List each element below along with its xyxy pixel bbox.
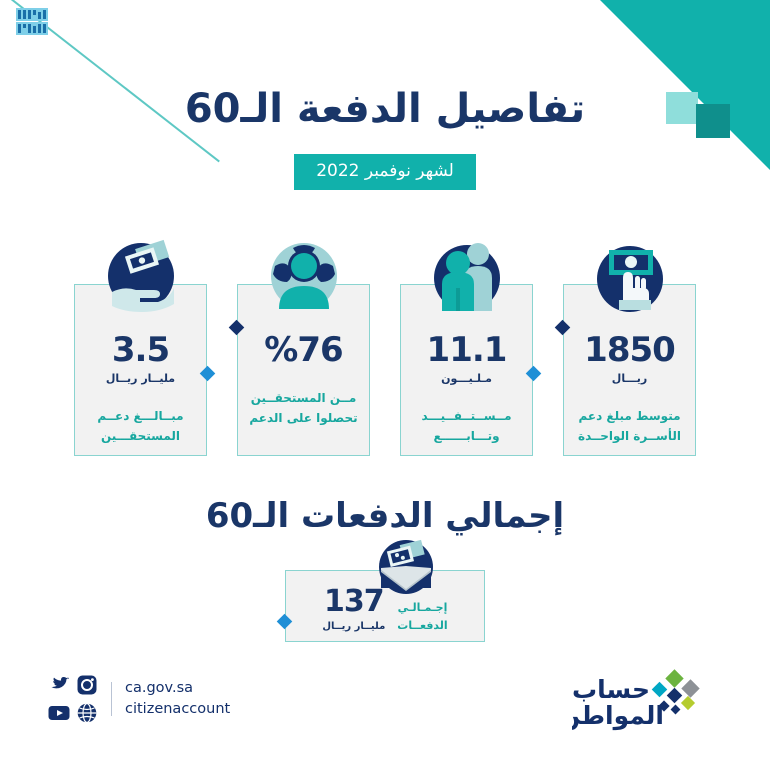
stat-value: 11.1 — [401, 333, 532, 367]
website-handle[interactable]: ca.gov.sa — [125, 678, 230, 699]
footer-divider — [111, 682, 112, 716]
brand-line-1: حساب — [572, 675, 650, 704]
total-label-line2: الدفعــات — [397, 619, 447, 632]
social-handle[interactable]: citizenaccount — [125, 699, 230, 720]
social-icons-grid — [48, 674, 98, 724]
stat-desc-line1: مــســتــفــيـــد — [421, 409, 511, 423]
hand-cash-icon — [591, 236, 669, 314]
stat-card: 1850 ريـــال متوسط مبلغ دعم الأســرة الو… — [563, 236, 696, 456]
stat-value: 1850 — [564, 333, 695, 367]
stat-desc-line1: متوسط مبلغ دعم — [578, 409, 680, 423]
stat-unit: ريـــال — [564, 372, 695, 385]
stat-desc-line2: الأســرة الواحــدة — [578, 429, 681, 443]
total-unit: مليــار ريــال — [322, 621, 385, 632]
stat-desc-line2: المستحقـــين — [101, 429, 180, 443]
twitter-icon[interactable] — [48, 674, 70, 696]
brand-line-2: المواطن — [572, 701, 664, 731]
stat-desc-line1: مــن المستحقــين — [251, 391, 357, 405]
social-block: ca.gov.sa citizenaccount — [48, 674, 230, 724]
envelope-money-icon — [375, 536, 437, 598]
stat-card: 3.5 مليــار ريــال مبــالـــغ دعــم المس… — [74, 236, 207, 456]
beneficiary-avatar-icon — [265, 236, 343, 314]
stat-description: مبــالـــغ دعــم المستحقـــين — [75, 407, 206, 447]
youtube-icon[interactable] — [48, 702, 70, 724]
footer: ca.gov.sa citizenaccount حساب المواطن — [0, 666, 770, 732]
stat-value: %76 — [238, 333, 369, 367]
footer-handles: ca.gov.sa citizenaccount — [125, 678, 230, 720]
stat-description: متوسط مبلغ دعم الأســرة الواحــدة — [564, 407, 695, 447]
spa-logo — [16, 8, 48, 36]
citizen-account-logo: حساب المواطن — [572, 666, 722, 732]
stat-desc-line2: تحصلوا على الدعم — [249, 411, 357, 425]
stat-card: 11.1 مـلـيـــون مــســتــفــيـــد وتـــا… — [400, 236, 533, 456]
stat-desc-line2: وتـــابــــــع — [433, 429, 499, 443]
header: تفاصيل الدفعة الـ60 لشهر نوفمبر 2022 — [0, 0, 770, 190]
total-label-line1: إجـمـالـي — [398, 601, 448, 614]
page-title: تفاصيل الدفعة الـ60 — [0, 86, 770, 132]
total-card: إجـمـالـي الدفعــات 137 مليــار ريــال — [285, 570, 485, 642]
instagram-icon[interactable] — [76, 674, 98, 696]
stat-cards-row: 1850 ريـــال متوسط مبلغ دعم الأســرة الو… — [0, 236, 770, 456]
family-people-icon — [428, 236, 506, 314]
stat-value: 3.5 — [75, 333, 206, 367]
hand-banknotes-icon — [102, 236, 180, 314]
stat-card: %76 مــن المستحقــين تحصلوا على الدعم — [237, 236, 370, 456]
date-badge: لشهر نوفمبر 2022 — [294, 154, 476, 190]
total-section-title: إجمالي الدفعات الـ60 — [0, 496, 770, 536]
stat-desc-line1: مبــالـــغ دعــم — [97, 409, 183, 423]
globe-icon[interactable] — [76, 702, 98, 724]
stat-description: مــســتــفــيـــد وتـــابــــــع — [401, 407, 532, 447]
stat-description: مــن المستحقــين تحصلوا على الدعم — [238, 389, 369, 429]
stat-unit: مليــار ريــال — [75, 372, 206, 385]
stat-unit: مـلـيـــون — [401, 372, 532, 385]
